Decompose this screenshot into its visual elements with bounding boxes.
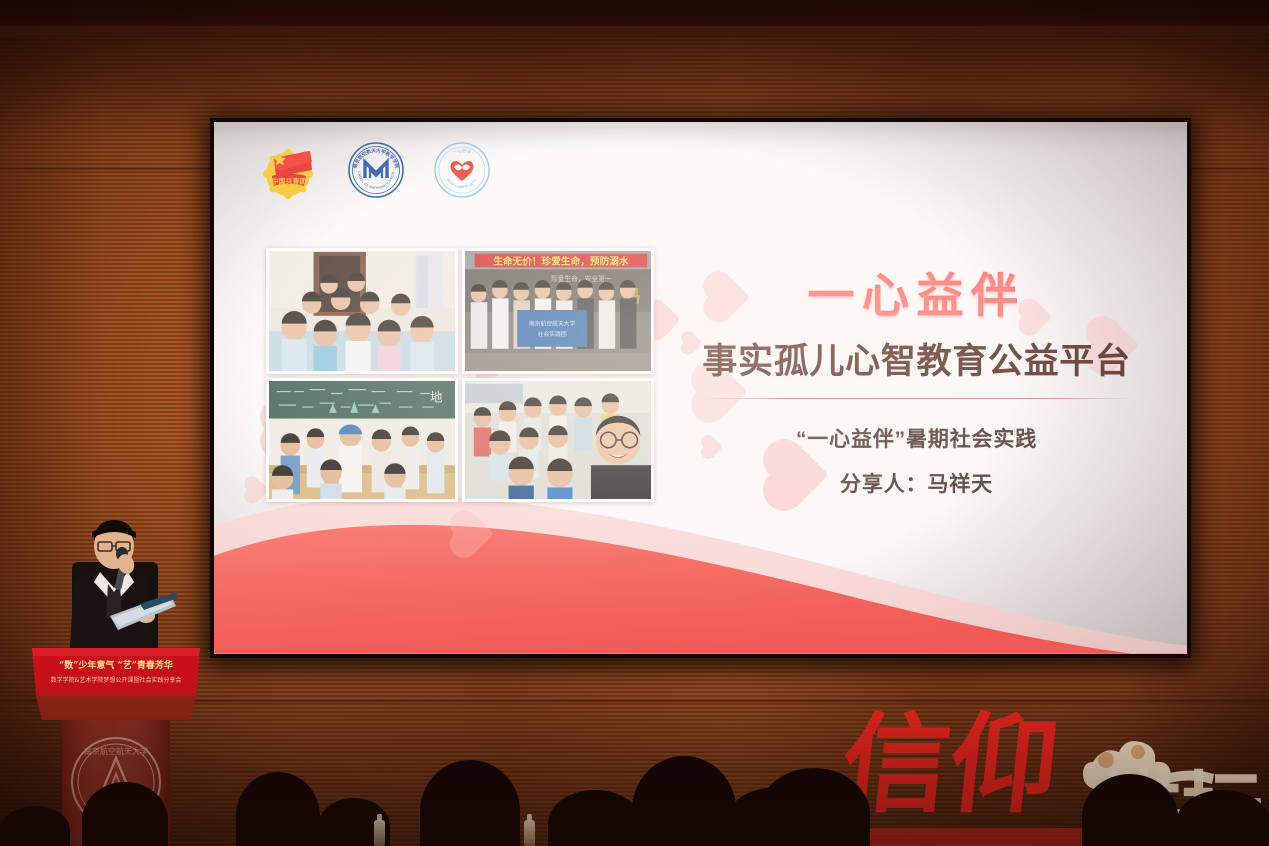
slide-main-headline: 事实孤儿心智教育公益平台 <box>669 333 1164 384</box>
podium-banner-line-2: 数学学院&艺术学院梦想公开课暨社会实践分享会 <box>51 676 182 684</box>
photo-blackboard-classroom: 地 <box>266 378 458 502</box>
photo-classroom-group <box>266 248 458 374</box>
audience-head <box>632 756 736 846</box>
photo-anti-drowning-banner: 生命无价！珍爱生命，预防溺水 珍爱生命，安全第一 码 <box>462 248 654 374</box>
photo-collage: 生命无价！珍爱生命，预防溺水 珍爱生命，安全第一 码 <box>266 248 654 502</box>
logo-row: 中国共青团 南京航空航天大学数学学院 SCHOOL OF MA <box>260 140 492 200</box>
audience-head <box>1082 774 1178 846</box>
audience-head <box>420 760 520 846</box>
audience-head <box>0 806 70 846</box>
ceiling-lip <box>0 26 1269 38</box>
school-of-mathematics-seal-icon: 南京航空航天大学数学学院 SCHOOL OF MATHEMATICS NUAA <box>346 140 406 200</box>
audience-head <box>758 768 870 846</box>
communist-youth-league-emblem-icon: 中国共青团 <box>260 140 320 200</box>
water-bottle <box>524 820 535 846</box>
water-bottle <box>374 820 385 846</box>
slide-divider <box>702 398 1132 399</box>
slide-subtitle-activity: “一心益伴”暑期社会实践 <box>669 423 1164 453</box>
audience-head <box>82 782 168 846</box>
podium-banner-line-1: “数”少年意气 “艺”青春芳华 <box>59 659 173 671</box>
slide-subtitle-presenter: 分享人：马祥天 <box>669 468 1164 498</box>
svg-text:中国共青团: 中国共青团 <box>272 177 307 186</box>
slide-text-block: 一心益伴 事实孤儿心智教育公益平台 “一心益伴”暑期社会实践 分享人：马祥天 <box>669 272 1164 498</box>
audience-silhouettes <box>0 716 1269 846</box>
audience-head <box>1176 790 1269 846</box>
projection-screen[interactable]: 中国共青团 南京航空航天大学数学学院 SCHOOL OF MA <box>210 118 1191 658</box>
photo-selfie-with-children <box>462 378 654 502</box>
presentation-slide: 中国共青团 南京航空航天大学数学学院 SCHOOL OF MA <box>214 122 1187 654</box>
yixin-yiban-heart-seal-icon: 一心益伴 事实孤儿心智教育公益平台 <box>432 140 492 200</box>
audience-head <box>548 790 642 846</box>
slide-brand-title: 一心益伴 <box>669 272 1164 321</box>
audience-head <box>236 772 320 846</box>
lecture-hall-scene: 中国共青团 南京航空航天大学数学学院 SCHOOL OF MA <box>0 0 1269 846</box>
